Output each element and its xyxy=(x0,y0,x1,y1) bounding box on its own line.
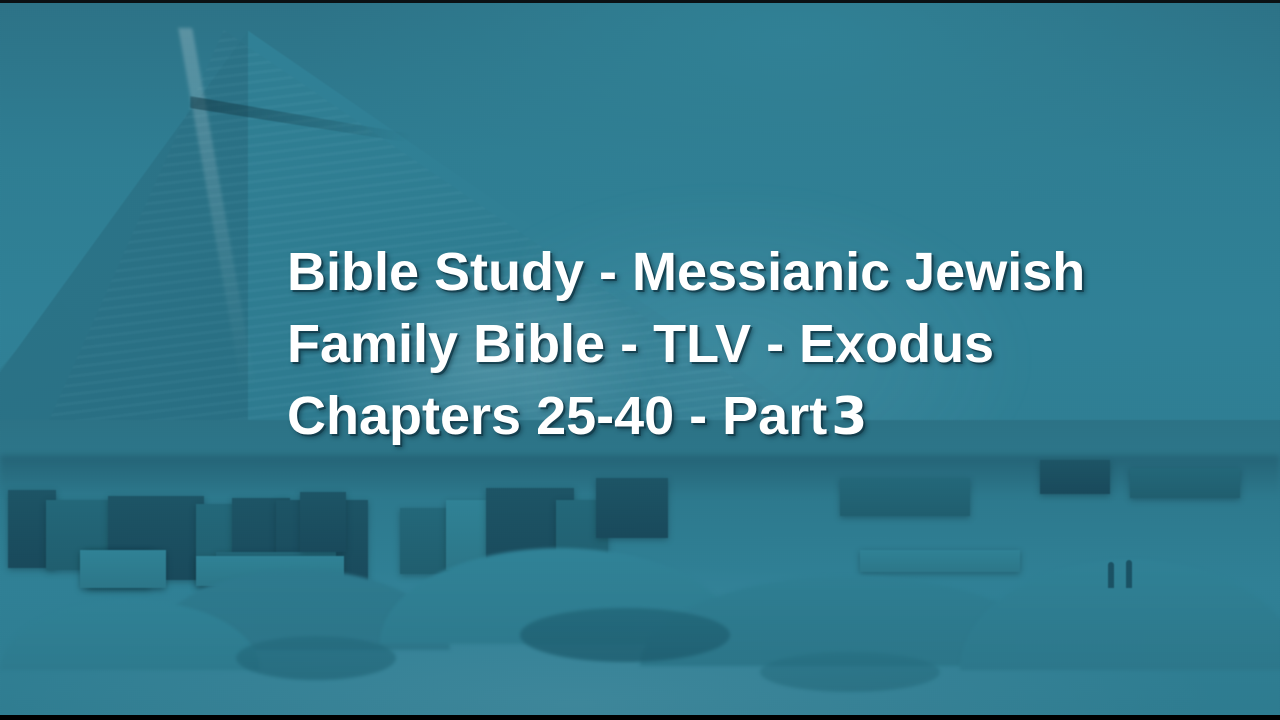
title-overlay: Bible Study - Messianic Jewish Family Bi… xyxy=(287,236,1227,453)
letterbox-bottom-bar xyxy=(0,715,1280,720)
title-line-3-text: Chapters 25-40 - Part xyxy=(287,386,827,446)
video-title-card: Bible Study - Messianic Jewish Family Bi… xyxy=(0,0,1280,720)
title-line-2: Family Bible - TLV - Exodus xyxy=(287,308,1227,380)
title-line-1: Bible Study - Messianic Jewish xyxy=(287,236,1227,308)
ruin-block xyxy=(1040,460,1110,494)
boulder xyxy=(520,608,730,662)
ruin-block xyxy=(300,492,346,552)
ruin-block xyxy=(80,550,166,588)
person-figure xyxy=(1108,562,1114,588)
person-figure xyxy=(1126,560,1132,588)
ruin-block xyxy=(860,550,1020,572)
ruin-block xyxy=(1130,468,1240,498)
boulder xyxy=(236,636,396,680)
ruin-block xyxy=(840,478,970,516)
part-number: 3 xyxy=(827,381,867,453)
letterbox-top-bar xyxy=(0,0,1280,3)
ruin-block xyxy=(596,478,668,538)
boulder xyxy=(760,652,940,692)
title-line-3: Chapters 25-40 - Part3 xyxy=(287,380,1227,453)
